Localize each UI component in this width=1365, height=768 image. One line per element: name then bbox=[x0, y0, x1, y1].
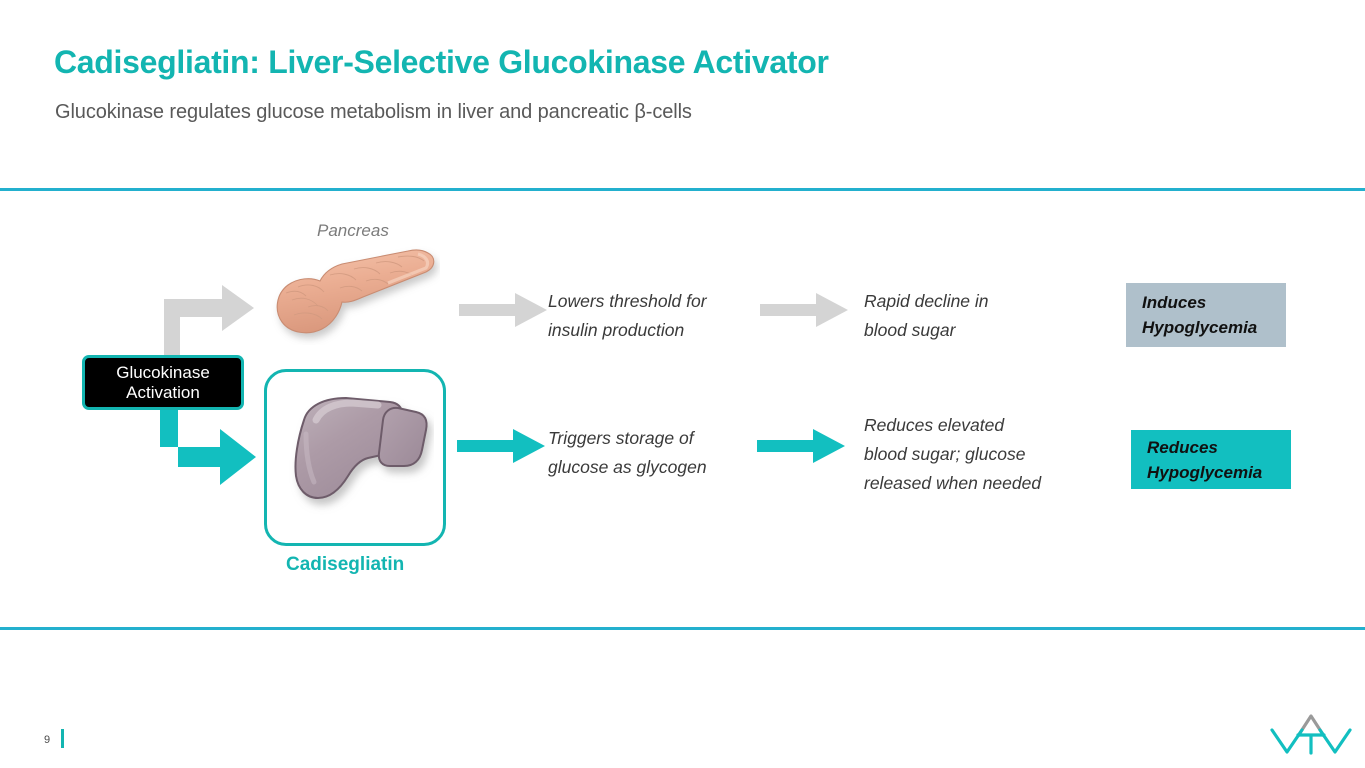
pancreas-step1-text: Lowers threshold for insulin production bbox=[548, 287, 748, 345]
glucokinase-activation-box[interactable]: Glucokinase Activation bbox=[82, 355, 244, 410]
pancreas-label: Pancreas bbox=[317, 221, 389, 241]
outcome-badge-reduces-hypoglycemia: Reduces Hypoglycemia bbox=[1131, 430, 1291, 489]
liver-illustration bbox=[286, 390, 434, 515]
pancreas-illustration bbox=[268, 245, 440, 345]
liver-card[interactable] bbox=[264, 369, 446, 546]
flow-arrow-pancreas-step1 bbox=[459, 293, 547, 327]
flow-arrow-pancreas-step2 bbox=[760, 293, 848, 327]
vtv-logo bbox=[1268, 710, 1354, 758]
badge-reduces-label: Reduces Hypoglycemia bbox=[1147, 435, 1291, 485]
badge-induces-label: Induces Hypoglycemia bbox=[1142, 290, 1286, 340]
footer-divider bbox=[0, 627, 1365, 630]
page-number-accent-bar bbox=[61, 729, 64, 748]
page-subtitle: Glucokinase regulates glucose metabolism… bbox=[55, 101, 692, 124]
page-title: Cadisegliatin: Liver-Selective Glucokina… bbox=[54, 44, 829, 81]
liver-step2-text: Reduces elevated blood sugar; glucose re… bbox=[864, 411, 1094, 498]
glucokinase-activation-label: Glucokinase Activation bbox=[116, 363, 210, 403]
outcome-badge-induces-hypoglycemia: Induces Hypoglycemia bbox=[1126, 283, 1286, 347]
flow-arrow-liver-step2 bbox=[757, 429, 845, 463]
page-number: 9 bbox=[44, 734, 50, 746]
liver-step1-text: Triggers storage of glucose as glycogen bbox=[548, 424, 758, 482]
pancreas-step2-text: Rapid decline in blood sugar bbox=[864, 287, 1084, 345]
flow-arrow-liver-step1 bbox=[457, 429, 545, 463]
liver-card-caption: Cadisegliatin bbox=[286, 554, 404, 576]
pathway-diagram: Pancreas bbox=[0, 190, 1365, 627]
